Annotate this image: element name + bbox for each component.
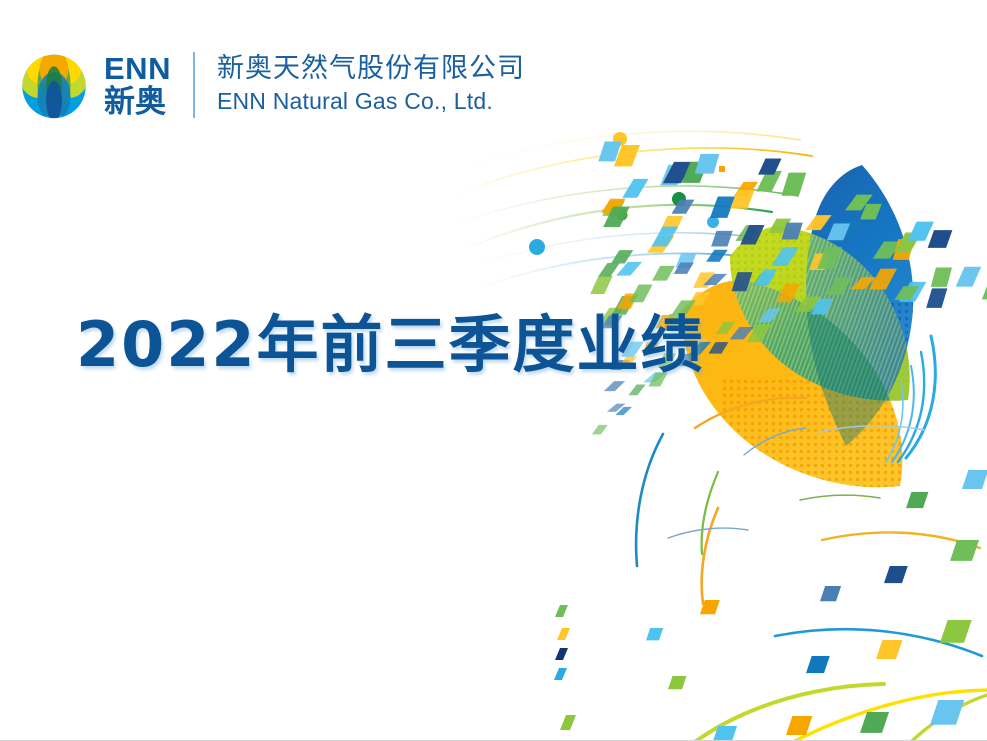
- particle-chip: [710, 196, 735, 217]
- particle-chip: [817, 247, 842, 269]
- particle-chip: [663, 162, 692, 183]
- particle-chip: [693, 272, 715, 288]
- slide-title: 2022年前三季度业绩: [76, 312, 705, 379]
- particle-chip: [747, 324, 772, 342]
- trail-dots: [529, 132, 758, 255]
- particle-chip-large: [940, 620, 972, 643]
- particle-chip-large: [806, 656, 830, 673]
- particle-chip-large: [700, 600, 720, 614]
- particle-chip: [928, 230, 953, 248]
- particle-chip: [716, 322, 735, 334]
- particle-chip: [732, 272, 753, 291]
- particle-chip-large: [884, 566, 908, 583]
- thin-trail-lines: [450, 131, 812, 290]
- particle-chip: [895, 286, 920, 300]
- particle-chip: [611, 250, 633, 263]
- company-name-english: ENN Natural Gas Co., Ltd.: [217, 88, 525, 116]
- petal-overlap-blends: [730, 165, 913, 446]
- particle-chip: [688, 292, 710, 305]
- particle-chip: [602, 200, 625, 215]
- particle-chip: [711, 231, 733, 247]
- particle-chip: [873, 242, 902, 259]
- brand-lockup: ENN 新奥 新奥天然气股份有限公司 ENN Natural Gas Co., …: [18, 42, 525, 128]
- particle-chip: [675, 254, 696, 268]
- particle-chip: [795, 297, 820, 312]
- particle-chip: [735, 225, 762, 241]
- particle-chip: [703, 274, 727, 285]
- particle-chip: [598, 263, 620, 277]
- particle-chip: [660, 216, 683, 231]
- particle-chip: [672, 200, 695, 214]
- company-name-chinese: 新奥天然气股份有限公司: [217, 54, 525, 84]
- particle-chip-large: [786, 716, 812, 735]
- particle-chip: [601, 199, 625, 213]
- particle-chip-large: [906, 492, 928, 508]
- particle-chip: [758, 309, 782, 323]
- particle-chip: [660, 165, 685, 186]
- particle-chip: [622, 179, 648, 198]
- particle-chip: [730, 327, 754, 339]
- particle-chip: [893, 239, 915, 260]
- particle-chip: [695, 154, 720, 174]
- particle-chip: [709, 342, 729, 353]
- particle-chip: [782, 223, 803, 240]
- particle-chip: [730, 190, 754, 208]
- lockup-divider: [193, 52, 195, 118]
- particle-chip: [598, 141, 621, 161]
- particle-chip: [628, 385, 645, 396]
- particle-chip: [811, 299, 833, 315]
- particle-chip: [682, 162, 709, 183]
- company-name-block: 新奥天然气股份有限公司 ENN Natural Gas Co., Ltd.: [217, 54, 525, 116]
- particle-chip: [827, 223, 850, 240]
- particle-chip: [629, 284, 652, 302]
- particle-chip-large: [668, 676, 686, 689]
- particle-chip: [615, 407, 632, 415]
- orange-petal: [682, 280, 920, 505]
- particle-chip: [616, 262, 642, 276]
- particle-chip: [706, 250, 728, 262]
- particle-chip: [781, 173, 806, 196]
- particle-chip-large: [876, 640, 902, 659]
- particle-chip-large: [962, 470, 987, 489]
- particle-chip: [617, 293, 639, 309]
- particle-chip: [805, 215, 831, 230]
- particle-chip: [899, 282, 926, 302]
- particle-chip: [756, 171, 782, 192]
- blue-petal: [806, 165, 928, 460]
- particle-chip: [860, 204, 882, 220]
- enn-wordmark: ENN 新奥: [104, 53, 171, 118]
- particle-chip: [607, 404, 626, 412]
- particle-chip: [771, 247, 798, 266]
- particle-chip: [809, 253, 830, 270]
- particle-chip: [768, 219, 791, 233]
- particle-chip: [614, 145, 640, 166]
- particle-chip: [652, 266, 675, 281]
- lime-petal: [730, 226, 920, 411]
- particle-chip: [826, 277, 853, 295]
- particle-chip: [894, 232, 921, 252]
- wordmark-latin: ENN: [104, 53, 171, 84]
- particle-chip-large: [646, 628, 663, 640]
- particle-chip: [869, 269, 897, 290]
- particle-chip: [751, 273, 775, 286]
- particle-chip: [652, 227, 679, 247]
- particle-chip: [603, 207, 630, 227]
- particle-chip: [592, 425, 608, 435]
- particle-chip: [604, 381, 625, 391]
- particle-chip-large: [950, 540, 979, 561]
- particle-chip: [931, 267, 952, 286]
- particle-chip: [908, 222, 934, 241]
- enn-lotus-logo-icon: [18, 49, 90, 121]
- wordmark-chinese: 新奥: [104, 87, 171, 118]
- particle-chip: [590, 276, 613, 294]
- particle-chip-large: [930, 700, 964, 725]
- swoosh-arcs: [886, 336, 935, 462]
- particle-chip: [982, 280, 987, 299]
- particle-chip-large: [712, 726, 737, 741]
- stray-chips: [554, 605, 576, 730]
- particle-chip: [926, 288, 947, 308]
- particle-chip: [734, 182, 758, 196]
- particle-chip: [647, 236, 674, 253]
- particle-field: [590, 141, 987, 741]
- particle-chip-large: [860, 712, 889, 733]
- particle-chip: [956, 267, 982, 287]
- presentation-slide: ENN 新奥 新奥天然气股份有限公司 ENN Natural Gas Co., …: [0, 0, 987, 741]
- particle-chip: [755, 269, 777, 285]
- particle-chip: [758, 159, 781, 175]
- particle-chip: [845, 195, 873, 211]
- particle-chip: [835, 221, 859, 237]
- particle-chip: [776, 284, 800, 302]
- particle-chip: [850, 277, 876, 289]
- particle-chip: [740, 225, 764, 245]
- particle-chip-large: [820, 586, 841, 601]
- particle-chip: [674, 262, 694, 273]
- particle-field-arcs: [636, 398, 987, 741]
